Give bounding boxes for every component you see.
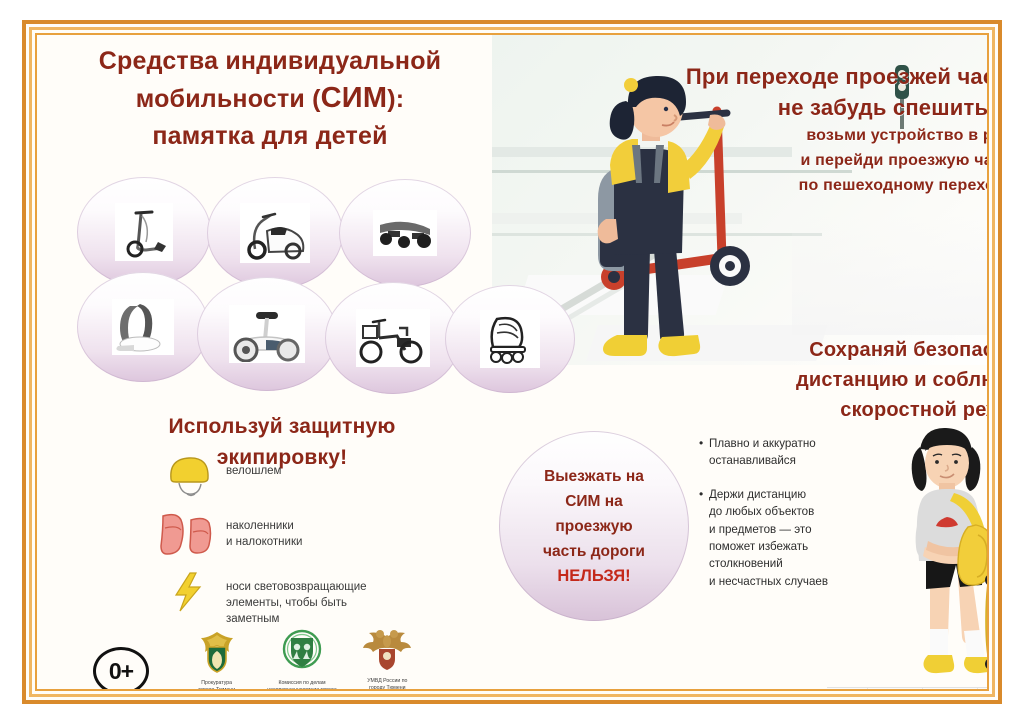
electric-skateboard-icon <box>374 213 436 253</box>
logo-juvenile-commission: Комиссия по делам несовершеннолетних гор… <box>262 629 341 691</box>
equipment-reflectors-line-3: заметным <box>226 611 367 627</box>
equipment-helmet-line-1: велошлем <box>226 463 281 479</box>
logo-caption-line: Комиссия по делам <box>262 680 341 687</box>
lightning-icon-wrap <box>152 571 226 613</box>
equipment-heading-line-1: Используй защитную <box>132 411 432 442</box>
girl-with-skateboard-illustration <box>892 427 989 691</box>
crosswalk-text-block: При переходе проезжей части не забудь сп… <box>600 61 989 198</box>
crosswalk-body-line-2: и перейди проезжую часть <box>600 148 989 173</box>
logo-mvd-caption: УМВД России по городу Тюмени <box>348 678 427 691</box>
poster-frame-inner: При переходе проезжей части не забудь сп… <box>35 33 989 691</box>
lightning-reflector-icon <box>172 571 206 613</box>
equipment-item-pads: наколенники и налокотники <box>152 510 472 558</box>
prosecutors-office-emblem <box>197 629 237 673</box>
bullet-line: столкновений <box>709 555 828 572</box>
bullet-line: поможет избежать <box>709 538 828 555</box>
device-image-monowheel <box>112 299 174 355</box>
electric-scooter-icon <box>116 204 172 260</box>
poster-frame-middle: При переходе проезжей части не забудь сп… <box>29 27 995 697</box>
bubble-electric-skateboard[interactable] <box>339 179 471 287</box>
equipment-item-reflectors: носи световозвращающие элементы, чтобы б… <box>152 571 472 627</box>
bullet-line: останавливайся <box>709 452 816 469</box>
crosswalk-heading-line-1: При переходе проезжей части <box>600 61 989 92</box>
bubble-segway[interactable] <box>197 277 337 391</box>
device-image-segway <box>229 305 305 363</box>
bullet-text: Держи дистанцию до любых объектов и пред… <box>709 486 828 590</box>
equipment-reflectors-text: носи световозвращающие элементы, чтобы б… <box>226 571 367 627</box>
bullet-line: и предметов — это <box>709 521 828 538</box>
equipment-pads-line-1: наколенники <box>226 518 302 534</box>
equipment-reflectors-line-1: носи световозвращающие <box>226 579 367 595</box>
logo-prosecutors-caption: Прокуратура города Тюмени <box>177 680 256 691</box>
list-item: • Держи дистанцию до любых объектов и пр… <box>699 486 899 590</box>
equipment-helmet-text: велошлем <box>226 455 281 479</box>
bubble-electric-scooter[interactable] <box>77 177 211 287</box>
skateboard-icon <box>985 560 989 681</box>
logo-mvd: УМВД России по городу Тюмени <box>348 629 427 691</box>
logo-caption-line: УМВД России по <box>348 678 427 685</box>
device-image-electric-scooter <box>115 203 173 261</box>
crosswalk-heading-line-2: не забудь спешиться, <box>600 92 989 123</box>
distance-bullet-list: • Плавно и аккуратно останавливайся • Де… <box>699 435 899 606</box>
page-title-line-2: мобильности (СИМ): <box>55 80 485 118</box>
electric-bike-icon <box>357 310 429 366</box>
equipment-pads-text: наколенники и налокотники <box>226 510 302 550</box>
device-image-electric-bike <box>356 309 430 367</box>
bullet-marker: • <box>699 486 709 590</box>
logo-juvenile-caption: Комиссия по делам несовершеннолетних гор… <box>262 680 341 691</box>
equipment-reflectors-line-2: элементы, чтобы быть <box>226 595 367 611</box>
logo-caption-line: городу Тюмени <box>348 685 427 691</box>
device-image-moped <box>240 203 310 263</box>
crosswalk-body-line-3: по пешеходному переходу! <box>600 173 989 198</box>
roller-skates-icon <box>481 311 539 367</box>
poster-canvas: При переходе проезжей части не забудь сп… <box>37 35 987 689</box>
monowheel-icon <box>114 300 172 354</box>
equipment-list: велошлем наколенники и налокотники <box>152 455 472 640</box>
device-bubbles-group <box>77 177 497 385</box>
bullet-line: до любых объектов <box>709 503 828 520</box>
logo-caption-line: города Тюмени <box>177 687 256 691</box>
logo-caption-line: несовершеннолетних города <box>262 687 341 691</box>
moped-icon <box>241 205 309 261</box>
segway-icon <box>230 306 304 362</box>
forbidden-line-3: проезжую <box>555 514 632 539</box>
distance-heading-line-1: Сохраняй безопасную <box>687 335 989 365</box>
distance-heading: Сохраняй безопасную дистанцию и соблюдай… <box>687 335 989 425</box>
page-title-line-3: памятка для детей <box>55 118 485 155</box>
poster-root: При переходе проезжей части не забудь сп… <box>0 0 1024 726</box>
forbidden-circle: Выезжать на СИМ на проезжую часть дороги… <box>499 431 689 621</box>
bubble-moped[interactable] <box>207 177 343 289</box>
road-haze <box>792 215 989 335</box>
logo-prosecutors-office: Прокуратура города Тюмени <box>177 629 256 691</box>
equipment-pads-line-2: и налокотники <box>226 534 302 550</box>
equipment-item-helmet: велошлем <box>152 455 472 497</box>
pads-icon-wrap <box>152 510 226 558</box>
distance-heading-line-2: дистанцию и соблюдай <box>687 365 989 395</box>
bubble-electric-bike[interactable] <box>325 282 461 394</box>
forbidden-line-2: СИМ на <box>565 489 623 514</box>
knee-elbow-pads-icon <box>157 510 221 558</box>
juvenile-commission-emblem <box>280 629 324 673</box>
bullet-marker: • <box>699 435 709 470</box>
forbidden-line-1: Выезжать на <box>544 464 644 489</box>
device-image-roller-skates <box>480 310 540 368</box>
logo-caption-line: Прокуратура <box>177 680 256 687</box>
bullet-text: Плавно и аккуратно останавливайся <box>709 435 816 470</box>
mvd-eagle-emblem <box>361 629 413 671</box>
footer-logos: Прокуратура города Тюмени Комиссия по де… <box>177 629 427 691</box>
helmet-icon <box>165 455 213 497</box>
distance-heading-line-3: скоростной режим! <box>687 395 989 425</box>
bubble-roller-skates[interactable] <box>445 285 575 393</box>
forbidden-alert-line: НЕЛЬЗЯ! <box>557 564 630 589</box>
page-title: Средства индивидуальной мобильности (СИМ… <box>55 43 485 155</box>
helmet-icon-wrap <box>152 455 226 497</box>
forbidden-line-4: часть дороги <box>543 539 645 564</box>
page-title-line-1: Средства индивидуальной <box>55 43 485 80</box>
bullet-line: и несчастных случаев <box>709 573 828 590</box>
list-item: • Плавно и аккуратно останавливайся <box>699 435 899 470</box>
poster-frame-outer: При переходе проезжей части не забудь сп… <box>22 20 1002 704</box>
bullet-line: Держи дистанцию <box>709 486 828 503</box>
girl-skateboard-svg <box>892 427 989 691</box>
device-image-electric-skateboard <box>373 210 437 256</box>
bubble-monowheel[interactable] <box>77 272 209 382</box>
age-rating-badge: 0+ <box>93 647 149 691</box>
crosswalk-body-line-1: возьми устройство в руки <box>600 123 989 148</box>
bullet-line: Плавно и аккуратно <box>709 435 816 452</box>
